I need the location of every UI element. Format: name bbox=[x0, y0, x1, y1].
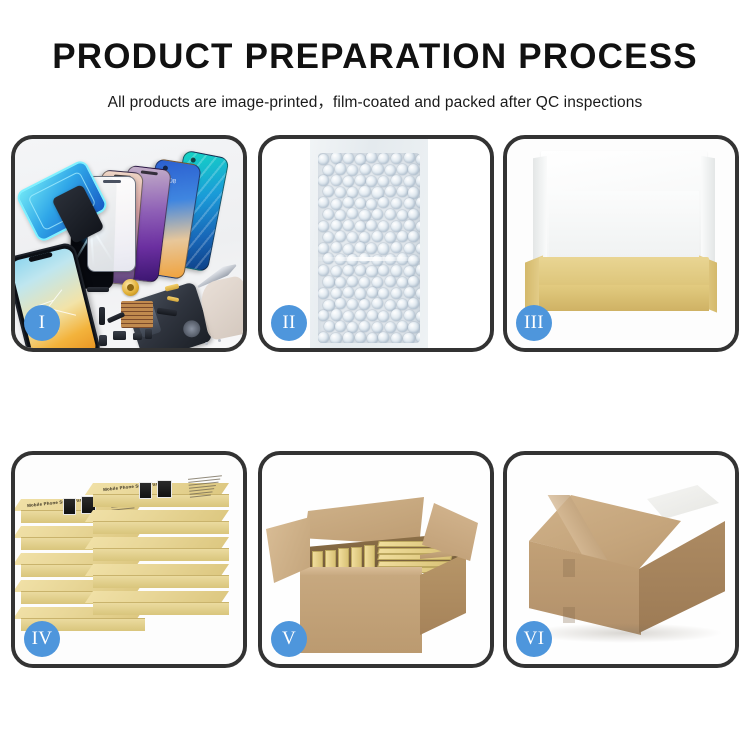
inner-box-edge bbox=[93, 575, 229, 588]
bubble bbox=[391, 153, 402, 164]
bubble bbox=[318, 332, 329, 343]
bubble bbox=[372, 231, 383, 242]
bubble bbox=[391, 242, 402, 253]
bubble bbox=[335, 210, 346, 221]
bubble bbox=[378, 265, 389, 276]
part-gold-flex-1 bbox=[165, 283, 180, 291]
step-badge-6: VI bbox=[516, 621, 552, 657]
bubble bbox=[408, 187, 419, 198]
bubble bbox=[331, 288, 342, 299]
bubble bbox=[366, 266, 377, 277]
bubble bbox=[378, 288, 389, 299]
bubble bbox=[416, 243, 420, 254]
bubble bbox=[323, 276, 334, 287]
part-flex-strip-2 bbox=[99, 307, 105, 325]
bubble bbox=[318, 288, 329, 299]
inner-box-edge bbox=[93, 548, 229, 561]
part-screw-3 bbox=[205, 342, 208, 345]
bubble bbox=[408, 298, 419, 309]
bubble bbox=[331, 153, 342, 164]
bubble bbox=[391, 333, 402, 343]
bubble bbox=[408, 276, 419, 287]
bubble bbox=[404, 287, 415, 298]
bubble bbox=[323, 232, 334, 243]
bubble bbox=[331, 199, 342, 210]
bubble bbox=[335, 321, 346, 332]
bubble bbox=[416, 311, 420, 322]
bubble bbox=[416, 288, 420, 299]
bubble bbox=[323, 209, 334, 220]
bubble bbox=[347, 276, 358, 287]
bubble bbox=[385, 209, 396, 220]
step-badge-3: III bbox=[516, 305, 552, 341]
bubble bbox=[343, 265, 354, 276]
bubble bbox=[404, 310, 415, 321]
bubble bbox=[404, 153, 415, 163]
bubble bbox=[347, 322, 358, 333]
process-step-3: III bbox=[503, 135, 739, 352]
box-product-photo-2 bbox=[157, 480, 172, 498]
bubble bbox=[404, 198, 415, 209]
bubble bbox=[366, 153, 377, 163]
bubble bbox=[318, 175, 329, 186]
carton-front-face bbox=[300, 575, 422, 653]
bubble bbox=[366, 176, 377, 187]
step-badge-1: I bbox=[24, 305, 60, 341]
bubble bbox=[324, 321, 335, 332]
bubble bbox=[397, 231, 408, 242]
bubble bbox=[372, 209, 383, 220]
part-flex-strip-4 bbox=[157, 308, 178, 317]
bubble bbox=[355, 198, 366, 209]
bubble bbox=[323, 186, 334, 197]
bubble bbox=[378, 221, 389, 232]
bubble bbox=[330, 333, 341, 343]
bubble bbox=[335, 163, 346, 174]
inner-box bbox=[93, 537, 229, 561]
bubble bbox=[343, 287, 354, 298]
bubble bbox=[366, 243, 377, 254]
bubble bbox=[347, 232, 358, 243]
bubble bbox=[331, 242, 342, 253]
bubble bbox=[408, 322, 419, 333]
bubble bbox=[355, 175, 366, 186]
process-step-6: VI bbox=[503, 451, 739, 668]
product-preparation-infographic: PRODUCT PREPARATION PROCESS All products… bbox=[0, 0, 750, 750]
box-product-photo-1 bbox=[63, 498, 76, 515]
bubble bbox=[343, 153, 354, 164]
bubble bbox=[408, 209, 419, 220]
part-flex-strip-1 bbox=[87, 287, 109, 292]
bubble bbox=[391, 265, 402, 276]
part-mesh-board bbox=[121, 301, 153, 328]
part-camera-module bbox=[99, 335, 107, 346]
bubble bbox=[331, 220, 342, 231]
bubble bbox=[355, 332, 366, 343]
inner-box: Mobile Phone Spare Parts bbox=[93, 483, 229, 507]
bubble bbox=[408, 231, 419, 242]
bubble bbox=[318, 154, 329, 165]
bubble bbox=[391, 175, 402, 186]
bubble bbox=[355, 154, 366, 165]
bubble bbox=[397, 321, 408, 332]
process-step-2: II bbox=[258, 135, 494, 352]
bubble bbox=[335, 187, 346, 198]
bubble bbox=[359, 299, 370, 310]
bubble bbox=[416, 197, 420, 208]
part-screw-2 bbox=[218, 339, 221, 342]
inner-box bbox=[93, 564, 229, 588]
bubble bbox=[367, 287, 378, 298]
bubble bbox=[331, 266, 342, 277]
bubble bbox=[397, 164, 408, 175]
bubble bbox=[355, 265, 366, 276]
bubble bbox=[372, 164, 383, 175]
bubble bbox=[366, 220, 377, 231]
bubble bbox=[391, 309, 402, 320]
process-step-grid: 10:08 bbox=[0, 131, 750, 701]
box-spec-lines bbox=[188, 475, 224, 499]
bubble bbox=[355, 310, 366, 321]
part-vibration-coil bbox=[122, 279, 139, 296]
bubble bbox=[318, 197, 329, 208]
bubble bbox=[343, 244, 354, 255]
bubble bbox=[318, 310, 329, 321]
inner-box-edge bbox=[93, 521, 229, 534]
bubble bbox=[404, 243, 415, 254]
bubble bbox=[318, 243, 329, 254]
bubble bbox=[397, 210, 408, 221]
bubble bbox=[335, 298, 346, 309]
bubble bbox=[367, 333, 378, 343]
bubble bbox=[359, 277, 370, 288]
bubble bbox=[343, 176, 354, 187]
carton-shadow bbox=[527, 623, 723, 643]
carton-seam-2 bbox=[563, 607, 575, 623]
bubble bbox=[385, 322, 396, 333]
bubble bbox=[355, 242, 366, 253]
bubble bbox=[343, 311, 354, 322]
bubble bbox=[359, 210, 370, 221]
box-product-photo-1 bbox=[139, 482, 152, 499]
bubble bbox=[359, 186, 370, 197]
bubble bbox=[343, 332, 354, 343]
bubble bbox=[335, 277, 346, 288]
bubble bbox=[416, 264, 420, 275]
bubble bbox=[318, 221, 329, 232]
bubble bbox=[378, 332, 389, 343]
bubble bbox=[378, 243, 389, 254]
bubble bbox=[331, 175, 342, 186]
bubble bbox=[416, 332, 420, 343]
page-subtitle: All products are image-printed，film-coat… bbox=[0, 90, 750, 112]
bubble bbox=[335, 231, 346, 242]
bubble bbox=[404, 176, 415, 187]
inner-box bbox=[93, 591, 229, 615]
bubble bbox=[372, 277, 383, 288]
bubble bbox=[347, 165, 358, 176]
bubble bbox=[343, 197, 354, 208]
bubble-wrap-bubbles bbox=[318, 153, 420, 343]
bubble bbox=[416, 175, 420, 186]
bubble bbox=[318, 265, 329, 276]
bubble bbox=[347, 208, 358, 219]
bubble bbox=[416, 221, 420, 232]
part-gold-flex-2 bbox=[167, 296, 180, 302]
bubble bbox=[355, 221, 366, 232]
bubble bbox=[408, 164, 419, 175]
process-step-1: 10:08 bbox=[11, 135, 247, 352]
bubble-wrap-seam bbox=[318, 257, 420, 261]
part-chip-2 bbox=[133, 333, 142, 340]
page-title: PRODUCT PREPARATION PROCESS bbox=[0, 39, 750, 74]
bubble bbox=[397, 186, 408, 197]
header: PRODUCT PREPARATION PROCESS All products… bbox=[0, 0, 750, 112]
bubble bbox=[378, 197, 389, 208]
bubble bbox=[416, 154, 420, 165]
bubble bbox=[391, 221, 402, 232]
inner-box-tray-front bbox=[539, 285, 709, 311]
bubble bbox=[385, 186, 396, 197]
bubble bbox=[359, 321, 370, 332]
bubble bbox=[347, 187, 358, 198]
part-chip-3 bbox=[145, 329, 152, 339]
bubble bbox=[404, 220, 415, 231]
bubble bbox=[331, 309, 342, 320]
bubble bbox=[367, 310, 378, 321]
bubble bbox=[343, 220, 354, 231]
part-chip-1 bbox=[113, 331, 126, 340]
inner-box-edge bbox=[93, 602, 229, 615]
bubble bbox=[355, 288, 366, 299]
bubble bbox=[378, 176, 389, 187]
bubble bbox=[347, 299, 358, 310]
bubble bbox=[360, 164, 371, 175]
bubble bbox=[385, 276, 396, 287]
bubble bbox=[359, 232, 370, 243]
bubble bbox=[378, 311, 389, 322]
inner-box bbox=[93, 510, 229, 534]
bubble bbox=[378, 153, 389, 164]
step-badge-5: V bbox=[271, 621, 307, 657]
bubble bbox=[404, 266, 415, 277]
bubble bbox=[391, 198, 402, 209]
step-badge-4: IV bbox=[24, 621, 60, 657]
bubble bbox=[403, 333, 414, 343]
bubble bbox=[391, 288, 402, 299]
process-step-5: V bbox=[258, 451, 494, 668]
process-step-4: Mobile Phone Spare PartsMobile Phone Spa… bbox=[11, 451, 247, 668]
bubble bbox=[372, 298, 383, 309]
bubble bbox=[323, 165, 334, 176]
step-badge-2: II bbox=[271, 305, 307, 341]
carton-seam-1 bbox=[563, 559, 575, 577]
bubble bbox=[397, 299, 408, 310]
bubble bbox=[366, 199, 377, 210]
inner-box-foam-sheet bbox=[549, 191, 699, 259]
